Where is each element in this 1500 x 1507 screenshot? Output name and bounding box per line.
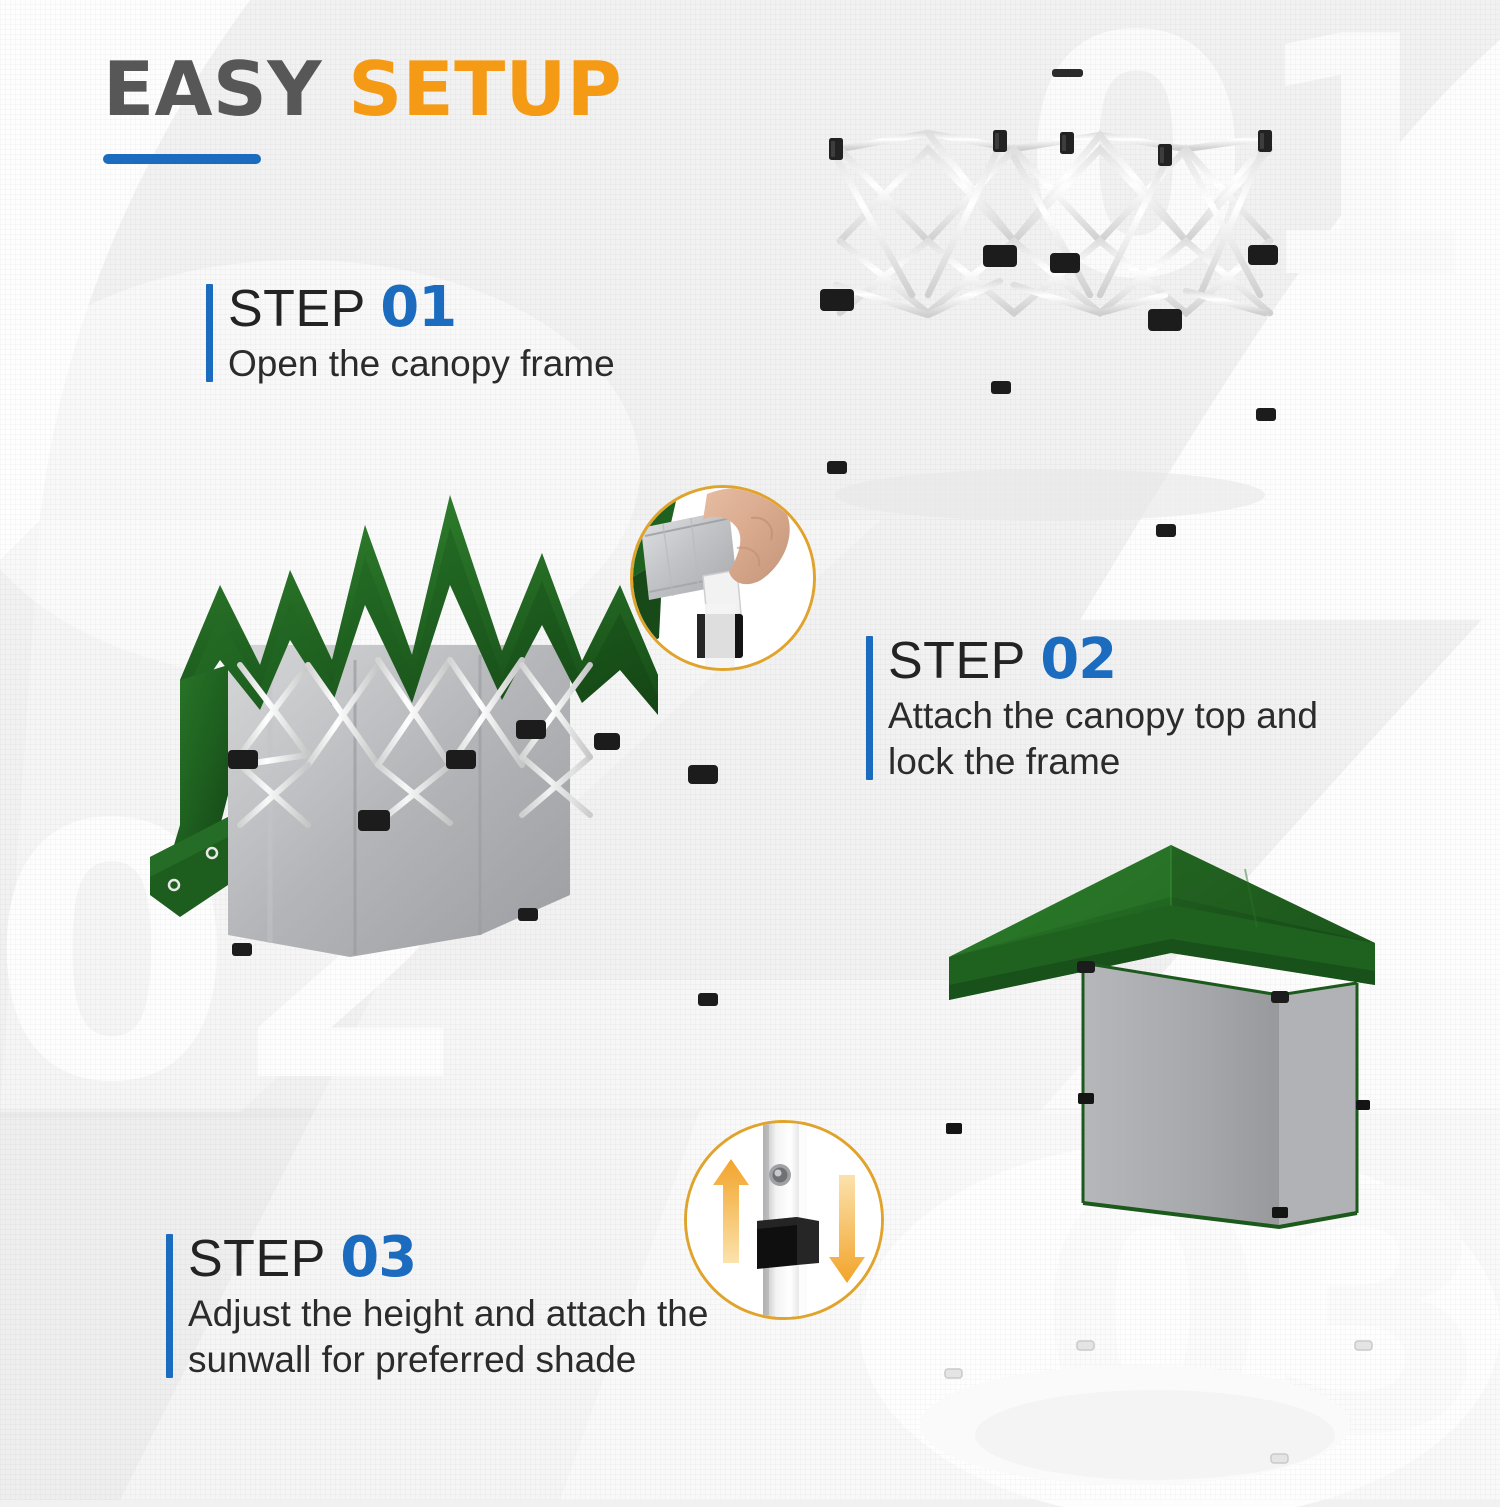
step-1-label: STEP [228, 280, 366, 338]
step-block-2: STEP 02 Attach the canopy top and lock t… [866, 630, 1318, 785]
step-block-3: STEP 03 Adjust the height and attach the… [166, 1228, 708, 1383]
page-title: EASY SETUP [103, 52, 622, 164]
step-3-heading: STEP 03 [188, 1228, 708, 1287]
height-adjust-callout [684, 1120, 884, 1320]
step-block-1: STEP 01 Open the canopy frame [206, 278, 615, 387]
step-2-label: STEP [888, 632, 1026, 690]
step-2-description: Attach the canopy top and lock the frame [888, 693, 1318, 785]
hero-word-setup: SETUP [348, 45, 622, 133]
assembled-canopy-photo [905, 835, 1395, 1495]
step-2-heading: STEP 02 [888, 630, 1318, 689]
step-1-number: 01 [380, 275, 456, 340]
title-underline-rule [103, 154, 261, 164]
step-2-number: 02 [1040, 627, 1116, 692]
hero-heading: EASY SETUP [103, 52, 622, 127]
velcro-strap-callout [630, 485, 816, 671]
step-3-description: Adjust the height and attach the sunwall… [188, 1291, 708, 1383]
canopy-frame-photo [800, 45, 1300, 535]
step-1-description: Open the canopy frame [228, 341, 615, 387]
step-3-label: STEP [188, 1230, 326, 1288]
hero-word-easy: EASY [103, 45, 322, 133]
step-1-heading: STEP 01 [228, 278, 615, 337]
step-3-number: 03 [340, 1225, 416, 1290]
